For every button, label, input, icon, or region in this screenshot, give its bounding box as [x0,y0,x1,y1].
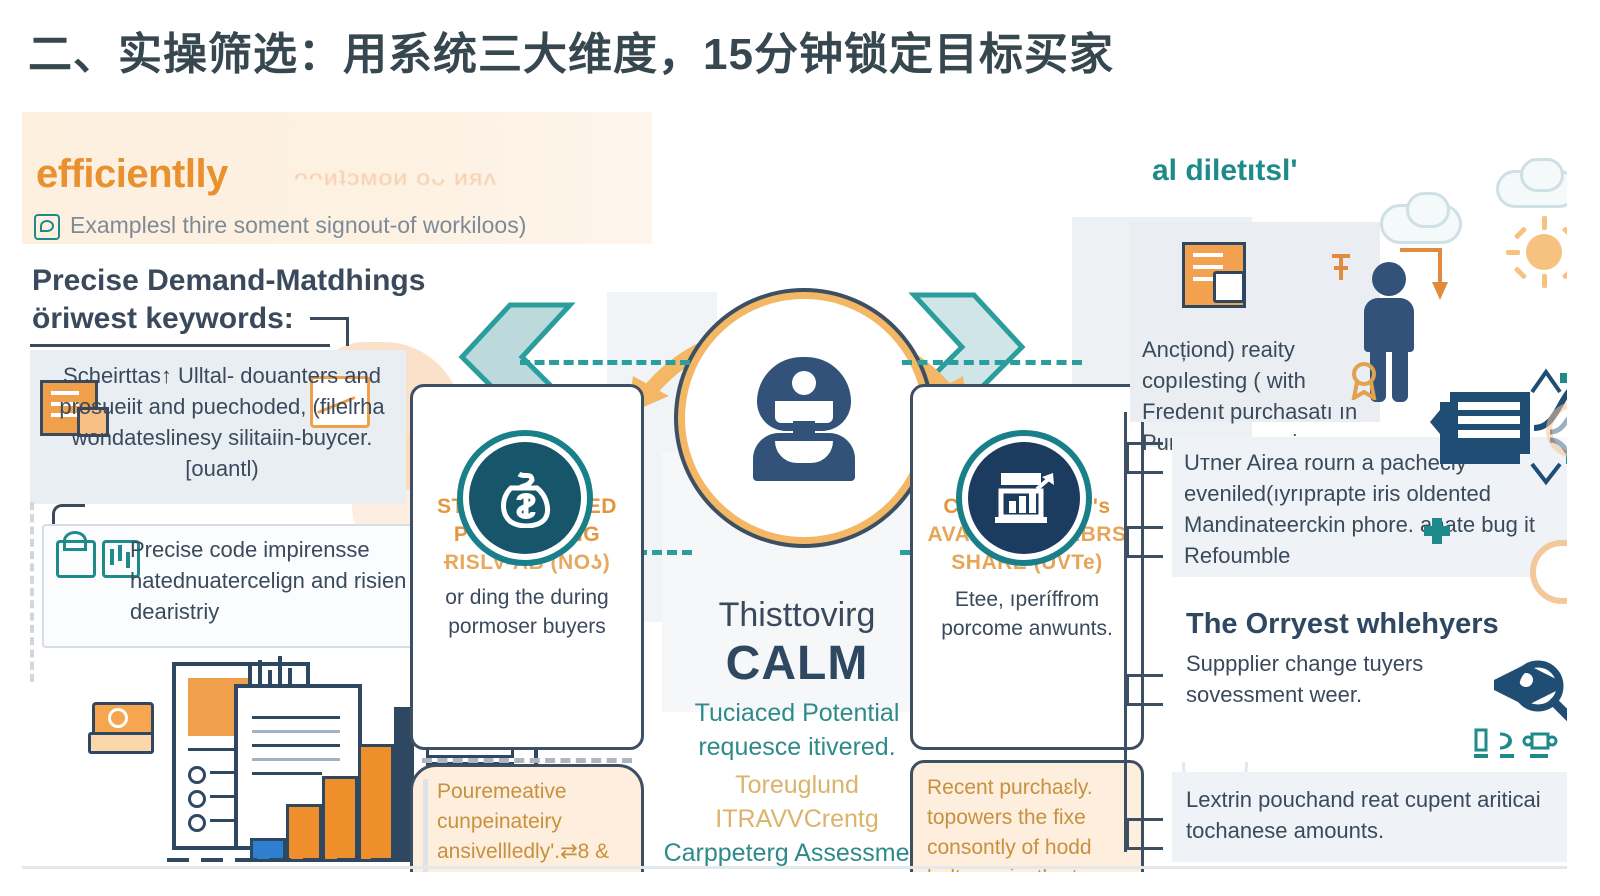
icon-strip [1472,728,1567,758]
left-info-box-2: Precise code impirensse hatednuatercelig… [42,524,418,648]
person-body [1364,298,1414,352]
document-hand-icon [1182,242,1246,308]
left-heading-line2: öriwest keywords: [32,302,294,336]
bullet-dot [188,790,206,808]
right-bracket-decor [1126,674,1163,706]
arrow-down-icon [1398,246,1452,302]
left-heading-line1: Precise Demand-Matdhings [32,264,425,298]
plus-icon [1424,518,1450,544]
left-box2-text: Precise code impirensse hatednuatercelig… [130,534,410,627]
bullet-dot [188,814,206,832]
competitor-share-card[interactable]: Comraptnedar's AVACHT 9ꟼNABRS SHARE (UVT… [910,384,1144,750]
banner-keyword: efficientlly [36,152,228,197]
right-info-box-3: Suppplier change tuyers sovessment weer. [1172,642,1567,762]
chart-bar [322,776,358,862]
chart-bar [286,804,322,862]
mini-spark [278,656,282,684]
sun-ray [1542,274,1547,288]
bar-chart-board-icon [993,471,1055,525]
sun-ray [1562,226,1567,239]
center-line1: Thisttovirg [662,594,932,636]
left-card-note: Pouremeative cunpeinateiry ansivellledly… [410,764,644,872]
left-card-body: or ding the during pormoser buyers [413,577,641,641]
left-dashed-connector [30,502,36,682]
sun-ray [1542,216,1547,230]
heading-underline [30,344,330,347]
robot-mouth [775,401,833,423]
camera-icon [92,702,154,748]
server-icon [1420,362,1567,502]
person-leg [1392,350,1408,402]
pin-icon [1328,252,1354,284]
right-box3-text: Suppplier change tuyers sovessment weer. [1186,648,1486,710]
mini-spark [268,670,272,684]
left-note-text: Pouremeative cunpeinateiry ansivellledly… [437,777,631,872]
sun-ray [1506,250,1520,255]
bottom-divider [22,866,1567,869]
chart-bar [358,744,394,862]
award-icon [1346,360,1382,400]
cloud-icon [1406,192,1450,228]
robot-icon [741,355,867,481]
center-line3: Tuciaced Potential requesce itivered. [662,692,932,764]
center-text-block: Thisttovirg CALM Tuciaced Potential requ… [662,594,932,870]
center-line2: CALM [662,636,932,692]
right-tag-label: al diletıtsl' [1152,154,1298,188]
mini-spark [248,666,252,684]
right-bracket-decor [1126,442,1163,474]
center-line5: Carppeterg Assessment [662,836,932,870]
bullet-dot [188,766,206,784]
sun-ray [1514,226,1527,239]
money-bag-icon [497,468,553,528]
banner-subtitle: Examplesl thire soment signout-of workil… [70,212,526,239]
left-info-box-1: Scheirttas↑ Ulltal- douanters and prosue… [30,350,406,504]
infographic-canvas: efficientlly ᴖᴖᴎʇᴐᴍᴏᴎ ᴏᴗ ᴎᴙᴧ Examplesl t… [22,112,1567,872]
text-line [252,758,340,761]
cloud-icon [1520,158,1564,192]
right-column: al diletıtsl' Ancționd) reaity copılesti… [1130,112,1567,872]
left-box1-text: Scheirttas↑ Ulltal- douanters and prosue… [38,360,406,484]
mini-spark [258,660,262,684]
home-icon [56,540,96,578]
text-line [252,772,322,775]
text-line [252,730,340,733]
banner-scribble-text: ᴖᴖᴎʇᴐᴍᴏᴎ ᴏᴗ ᴎᴙᴧ [294,166,497,191]
page-title: 二、实操筛选：用系统三大维度，15分钟锁定目标买家 [28,18,1114,82]
robot-eye [792,371,816,395]
strengthened-purchasing-card[interactable]: STRENGTHENED PURCHASING ɌISLV-AB (NOʖ) o… [410,384,644,750]
right-bracket-decor [1126,818,1163,850]
highlight-banner: efficientlly ᴖᴖᴎʇᴐᴍᴏᴎ ᴏᴗ ᴎᴙᴧ Examplesl t… [22,112,652,244]
right-bracket-decor [1126,526,1163,558]
money-bag-icon-badge [469,442,581,554]
left-note-dashed-top [422,758,632,763]
text-line [252,716,340,719]
search-stack-icon [1482,646,1567,726]
sun-ray [1562,266,1567,279]
speech-bubble-icon [34,214,60,240]
right-info-box-4: Lextrin pouchand reat cupent ariticai to… [1172,772,1567,862]
right-heading: The Orryest whlehyers [1186,608,1499,641]
sun-icon [1526,234,1562,270]
right-card-note: Recent purchaɛly. topowers the fixe cons… [910,760,1144,872]
heading-bracket-decor [310,317,349,346]
plus-icon [1560,364,1567,392]
right-vertical-rail [1124,412,1127,852]
right-card-body: Etee, ıperíffrom porcome anwunts. [913,577,1141,643]
sun-ray [1514,266,1527,279]
teal-dashed-line-top [902,360,1082,365]
text-line [252,744,340,747]
right-box4-text: Lextrin pouchand reat cupent ariticai to… [1186,784,1567,846]
bar-chart-board-icon-badge [968,442,1080,554]
center-line4: Toreuglund ITRAVVCrentg [662,764,932,836]
slide-root: 二、实操筛选：用系统三大维度，15分钟锁定目标买家 efficientlly ᴖ… [0,0,1600,896]
teal-dashed-line-top [520,360,690,365]
central-robot-hub [678,292,930,544]
right-note-text: Recent purchaɛly. topowers the fixe cons… [927,773,1131,872]
mini-spark [288,668,292,684]
note-accent-bar [423,779,428,872]
